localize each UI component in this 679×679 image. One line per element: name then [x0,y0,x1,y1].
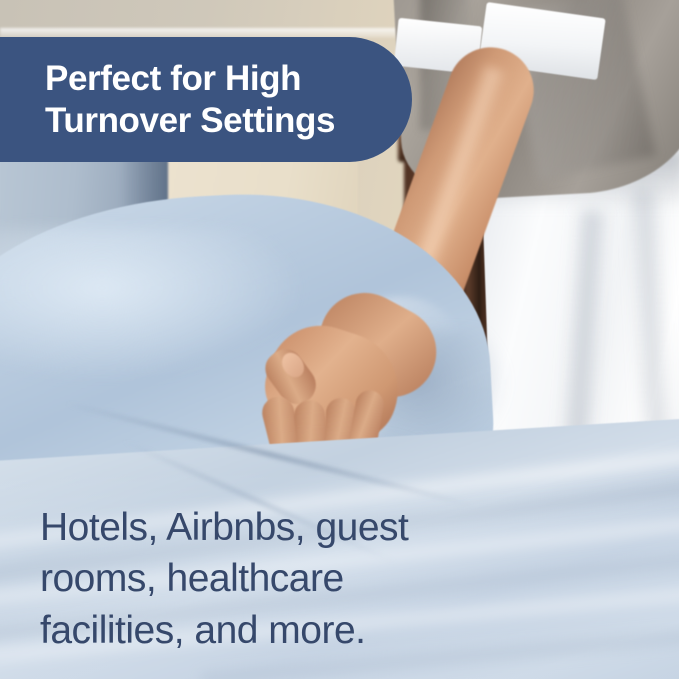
headline-banner: Perfect for High Turnover Settings [0,37,412,162]
subhead-text: Hotels, Airbnbs, guest rooms, healthcare… [40,502,510,656]
marketing-image-canvas: Perfect for High Turnover Settings Hotel… [0,0,679,679]
pillow-highlight [0,228,300,378]
headline-text: Perfect for High Turnover Settings [45,58,335,142]
